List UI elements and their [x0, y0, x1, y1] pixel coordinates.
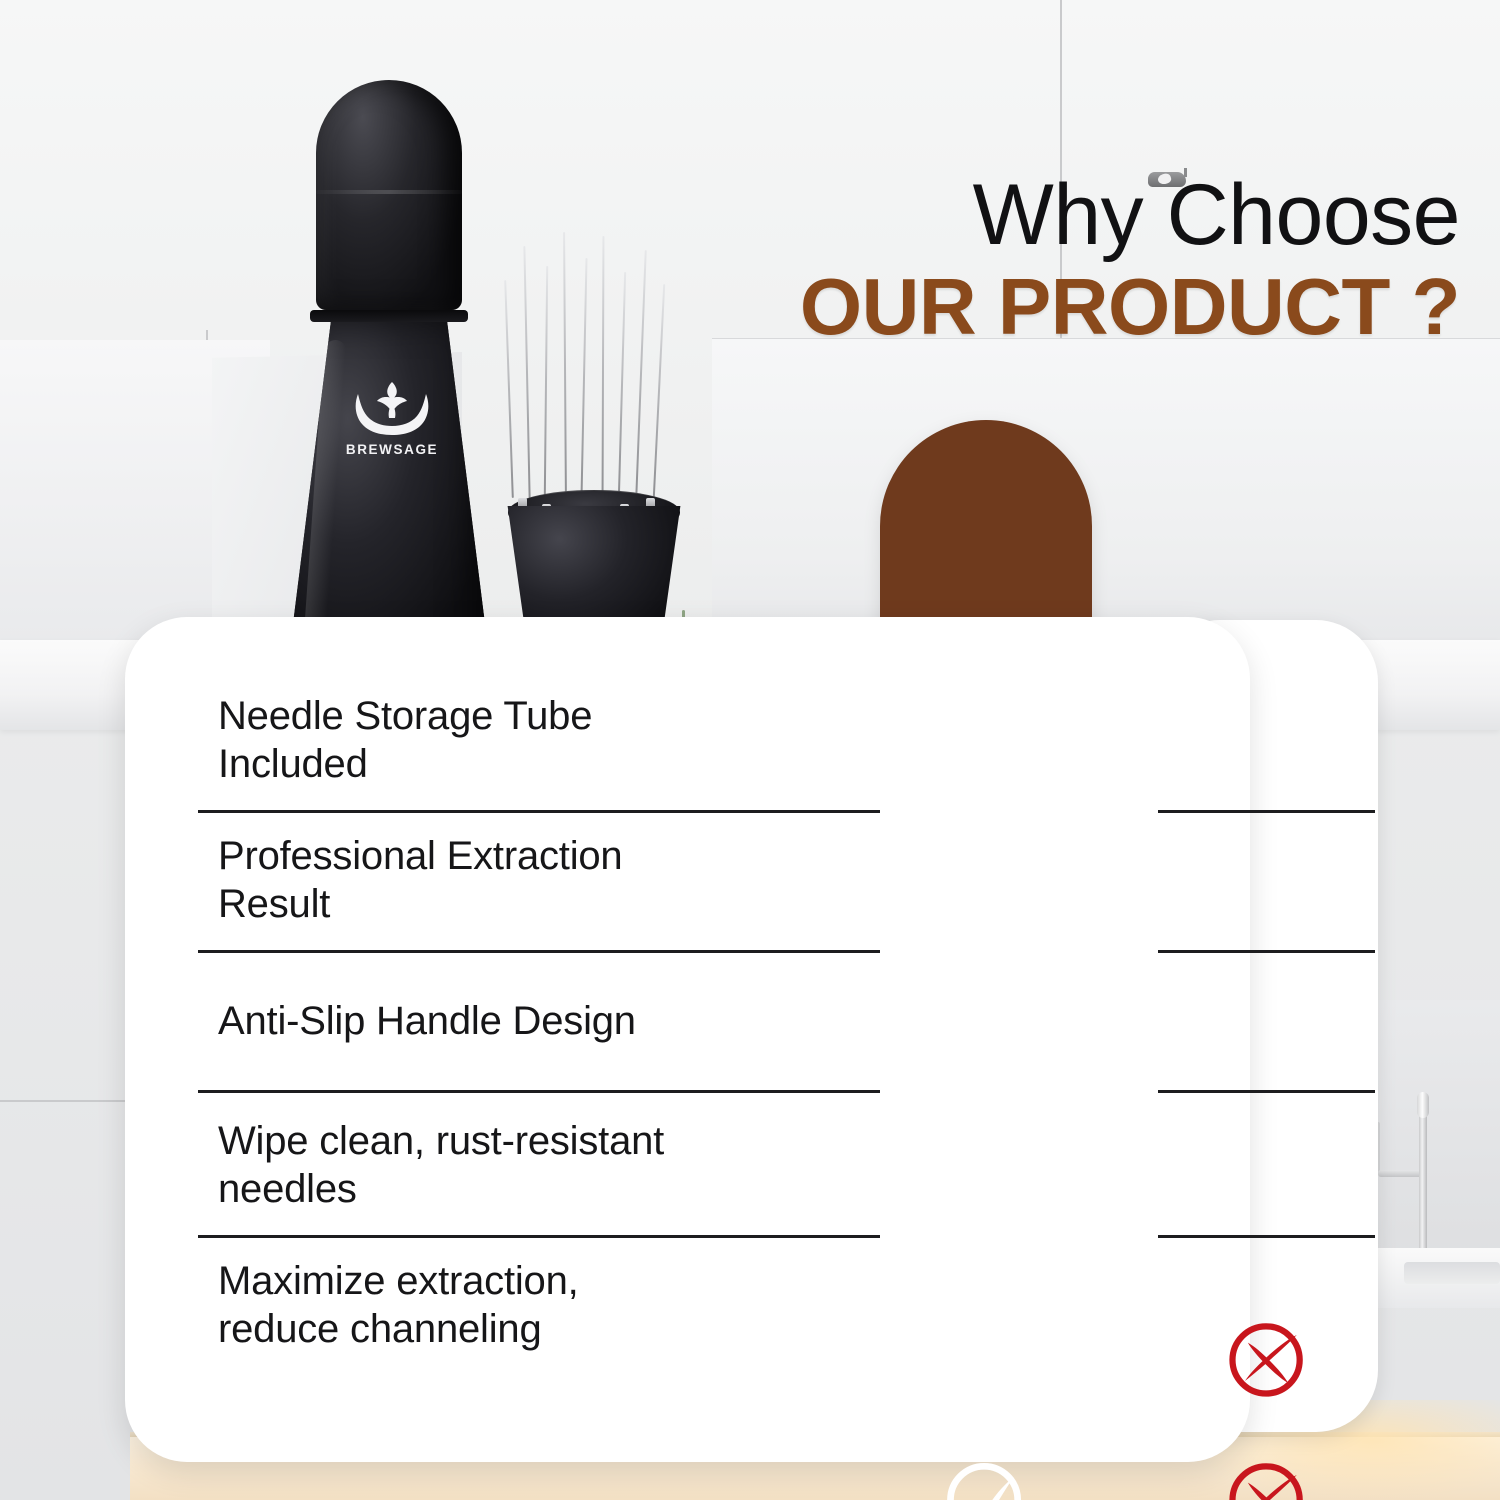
row-divider: [198, 810, 884, 813]
feature-label-2: Professional ExtractionResult: [218, 832, 838, 928]
row-divider: [1158, 810, 1375, 813]
row-divider-gap: [880, 1233, 1092, 1240]
row-divider: [1158, 1235, 1375, 1238]
feature-label-5: Maximize extraction,reduce channeling: [218, 1257, 838, 1353]
phoenix-crest-icon: [348, 380, 436, 440]
brand-name: BREWSAGE: [342, 442, 442, 457]
wdt-needle-holder: [490, 198, 700, 668]
infographic-stage: BREWSAGE: [0, 0, 1500, 1500]
distribution-needles: [490, 198, 700, 498]
feature-label-1: Needle Storage TubeIncluded: [218, 692, 838, 788]
row-divider: [198, 1235, 884, 1238]
row-divider-gap: [880, 948, 1092, 955]
headline-line-2: OUR PRODUCT ?: [700, 264, 1460, 350]
comparison-table: Needle Storage TubeIncluded Professional…: [0, 617, 1500, 1462]
row-divider-gap: [880, 808, 1092, 815]
row-divider: [198, 950, 884, 953]
feature-label-4: Wipe clean, rust-resistantneedles: [218, 1117, 838, 1213]
row-divider: [198, 1090, 884, 1093]
row-divider-gap: [880, 1088, 1092, 1095]
check-circle-icon: [938, 1450, 1034, 1500]
check-circle-icon: [938, 1310, 1034, 1406]
product-photo: BREWSAGE: [240, 80, 700, 680]
counter-island: [712, 338, 1500, 649]
cross-circle-icon: [1220, 1310, 1316, 1406]
row-divider: [1158, 950, 1375, 953]
brand-logo: BREWSAGE: [342, 380, 442, 466]
row-divider: [1158, 1090, 1375, 1093]
headline: Why Choose OUR PRODUCT ?: [700, 172, 1460, 350]
feature-label-3: Anti-Slip Handle Design: [218, 997, 838, 1045]
cross-circle-icon: [1220, 1450, 1316, 1500]
headline-line-1: Why Choose: [700, 172, 1460, 260]
needle-storage-tube: BREWSAGE: [280, 80, 490, 680]
